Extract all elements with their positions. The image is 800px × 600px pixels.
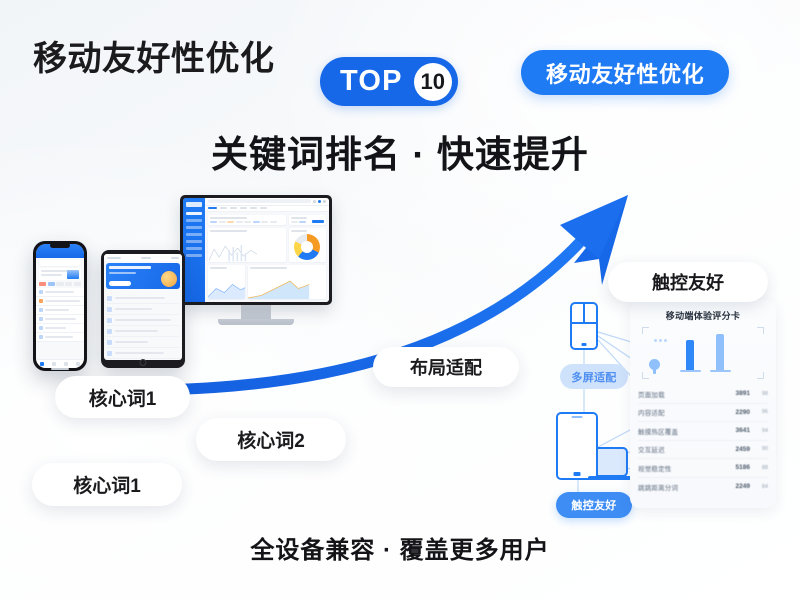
touch-friendly-pill: 触控友好 [556,492,632,518]
phone-mockup [33,241,87,371]
table-row: 触摸热区覆盖 3641 94 [638,422,768,441]
list-item [36,324,84,333]
list-item [107,326,179,337]
page-subtitle: 关键词排名 · 快速提升 [0,124,800,178]
dashboard-topbar [205,198,329,206]
phone-home-indicator [51,368,69,370]
top-rank-badge: TOP 10 [320,57,458,106]
keyword-pill-2: 核心词2 [196,418,346,461]
dashboard-filter-card [208,215,286,226]
list-item [107,304,179,315]
large-phone-icon [556,412,598,480]
table-row: 交互延迟 2459 90 [638,441,768,460]
scorecard-title: 移动端体验评分卡 [638,309,768,322]
table-row: 页面加载 3891 98 [638,385,768,404]
list-item [107,293,179,304]
multi-screen-pill: 多屏适配 [560,364,628,389]
touch-friendly-heading: 触控友好 [608,262,768,302]
list-item [36,297,84,306]
dashboard-summary-card [289,215,326,226]
table-row: 内容适配 2290 96 [638,404,768,423]
desktop-monitor-mockup [180,195,332,325]
list-item [107,315,179,326]
header-tag-pill: 移动友好性优化 [521,50,729,95]
laptop-base [588,476,634,480]
footer-tagline: 全设备兼容 · 覆盖更多用户 [0,530,800,565]
dashboard-sidebar [183,198,205,302]
multi-device-diagram: 多屏适配 触控友好 [548,292,636,512]
list-item [107,348,179,359]
tablet-hero-banner [106,263,180,289]
keyword-pill-1: 核心词1 [55,376,190,418]
phone-feature-card [39,268,81,280]
monitor-stand [218,319,294,325]
scorecard: 移动端体验评分卡 页面加载 3891 98 内容适配 2290 96 [630,300,776,508]
tablet-list [104,291,182,360]
dashboard-area-chart-card-2 [248,265,326,299]
keyword-pill-3: 核心词1 [32,463,182,506]
list-item [36,333,84,342]
scorecard-chart [642,327,764,379]
list-item [36,315,84,324]
device-mockup-cluster [25,195,335,395]
small-phone-icon [570,302,598,350]
monitor-neck [241,305,271,319]
list-item [36,288,84,297]
dashboard-area-chart-card-1 [208,265,245,299]
list-item [36,306,84,315]
top-badge-word: TOP [340,65,403,98]
tablet-mockup [101,250,185,368]
tablet-home-button [140,359,147,366]
dashboard-bar-chart-card [208,228,286,262]
layout-adaptation-pill: 布局适配 [373,347,519,387]
phone-tabbar [36,359,84,368]
table-row: 跳跳距离分词 2249 84 [638,478,768,497]
list-item [107,337,179,348]
touch-friendly-panel: 触控友好 多屏适配 触控友好 [548,262,776,512]
dashboard-donut-chart-card [289,228,326,262]
phone-search-field [39,260,81,266]
page-title: 移动友好性优化 [33,31,275,80]
infographic-canvas: 移动友好性优化 TOP 10 移动友好性优化 关键词排名 · 快速提升 [0,0,800,600]
phone-notch [50,243,70,248]
dashboard-search-field [208,199,311,203]
table-row: 视觉稳定性 5186 88 [638,459,768,478]
top-badge-number: 10 [414,63,452,101]
